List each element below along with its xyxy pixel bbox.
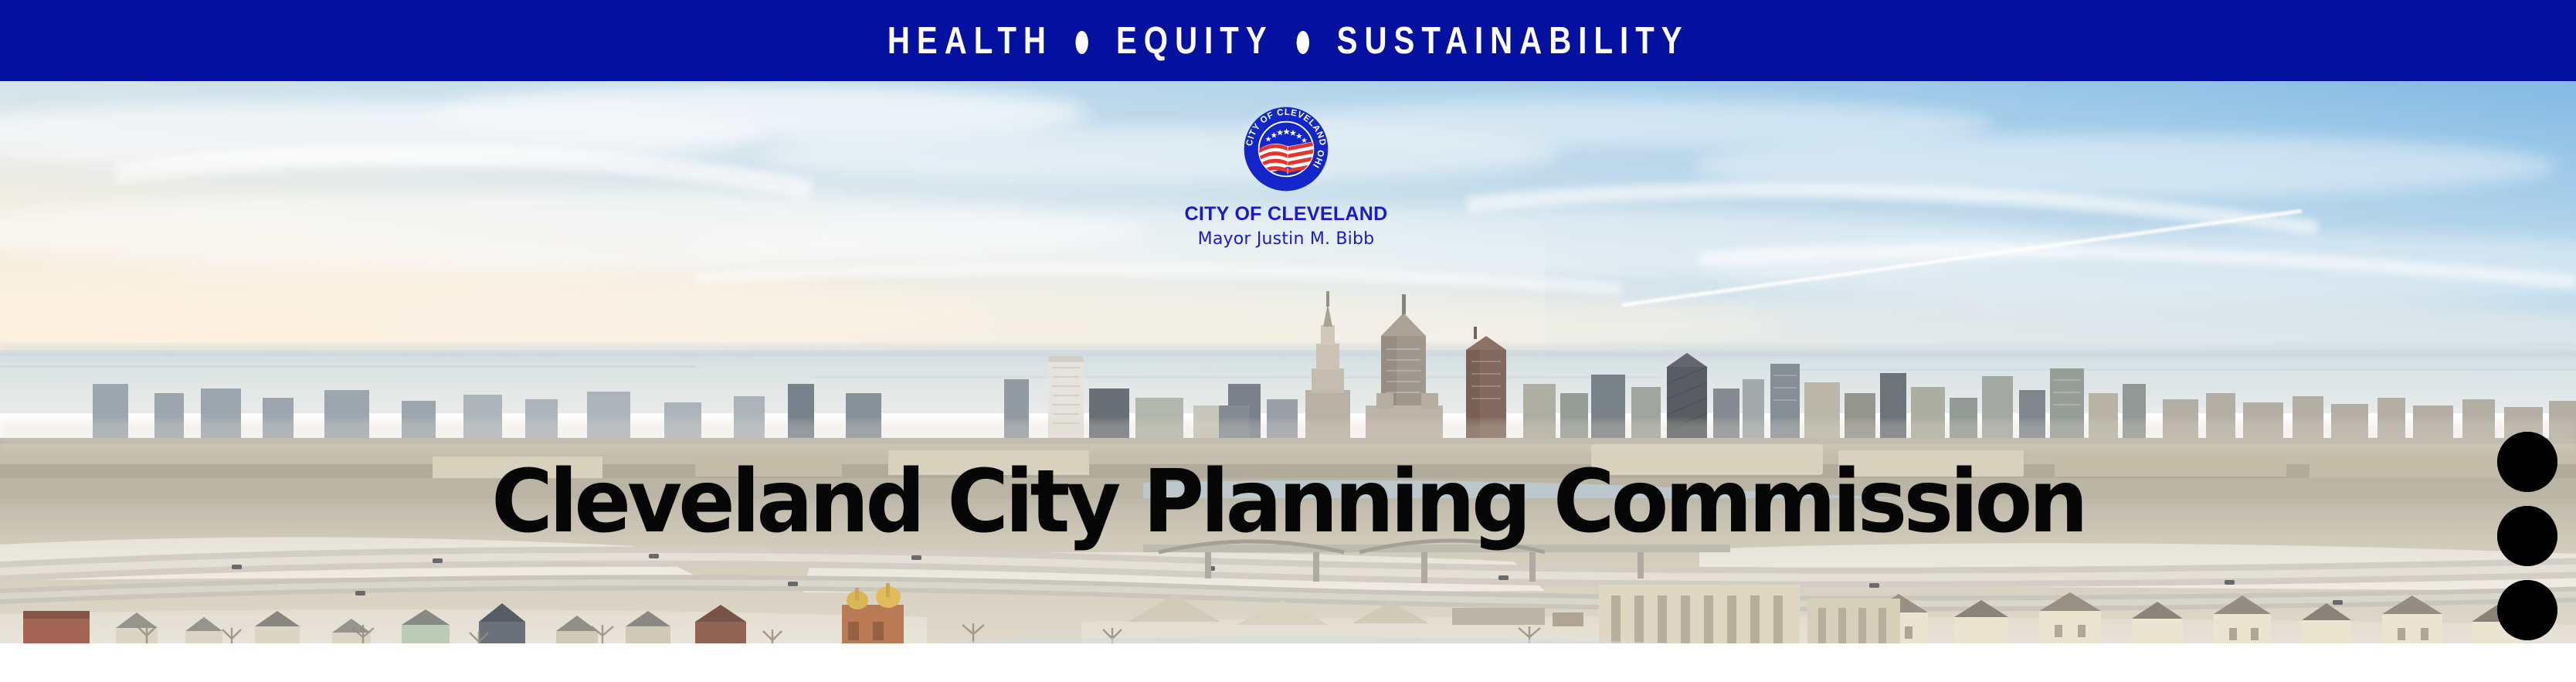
city-of-cleveland-seal-icon: CITY OF CLEVELAND OHIO [1243,106,1329,192]
city-logo-block: CITY OF CLEVELAND OHIO CITY OF CLEVELAND… [1085,106,1487,248]
tagline-bar: HEALTH EQUITY SUSTAINABILITY [0,0,2576,81]
city-name-label: CITY OF CLEVELAND [1085,205,1487,224]
tagline-word-equity: EQUITY [1116,19,1274,63]
social-links [2497,432,2557,654]
tagline-text: HEALTH EQUITY SUSTAINABILITY [888,19,1689,63]
facebook-icon[interactable] [2497,580,2557,640]
page-title: Cleveland City Planning Commission [39,459,2537,545]
youtube-icon[interactable] [2497,432,2557,492]
tagline-word-health: HEALTH [888,19,1053,63]
page-root: HEALTH EQUITY SUSTAINABILITY [0,0,2576,682]
mayor-name-label: Mayor Justin M. Bibb [1085,231,1487,248]
instagram-icon[interactable] [2497,506,2557,566]
bullet-dot-icon [1296,31,1308,54]
bullet-dot-icon [1075,31,1088,54]
tagline-word-sustainability: SUSTAINABILITY [1336,19,1688,63]
